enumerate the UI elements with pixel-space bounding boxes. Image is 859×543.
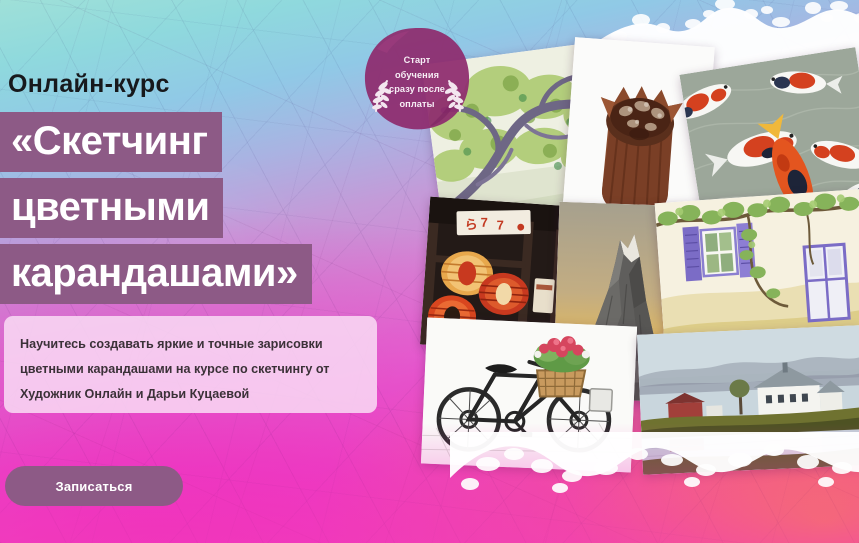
headline-line-1: «Скетчинг xyxy=(0,112,222,172)
badge-line-1: Старт xyxy=(363,53,471,68)
eyebrow-label: Онлайн-курс xyxy=(8,70,170,99)
svg-text:7: 7 xyxy=(497,217,504,232)
badge-text: Старт обучения сразу после оплаты xyxy=(363,53,471,111)
start-badge: Старт обучения сразу после оплаты xyxy=(363,27,471,132)
svg-text:ら: ら xyxy=(465,217,478,232)
badge-line-3: сразу после xyxy=(363,82,471,97)
description-line-1: Научитесь создавать яркие и точные зарис… xyxy=(20,332,357,357)
svg-text:7: 7 xyxy=(481,215,488,230)
course-hero-banner: ら77 xyxy=(0,0,859,543)
course-description-panel: Научитесь создавать яркие и точные зарис… xyxy=(4,316,377,413)
description-line-3: Художник Онлайн и Дарьи Куцаевой xyxy=(20,382,357,407)
page-title: «Скетчинг цветными карандашами» xyxy=(0,112,312,304)
enroll-button[interactable]: Записаться xyxy=(5,466,183,506)
artwork-card-landscape[interactable] xyxy=(637,325,859,475)
headline-line-2: цветными xyxy=(0,178,223,238)
description-line-2: цветными карандашами на курсе по скетчин… xyxy=(20,357,357,382)
headline-line-3: карандашами» xyxy=(0,244,312,304)
badge-line-2: обучения xyxy=(363,68,471,83)
badge-line-4: оплаты xyxy=(363,97,471,112)
landscape-artwork xyxy=(637,325,859,475)
artwork-card-bicycle[interactable] xyxy=(421,317,637,472)
bicycle-artwork xyxy=(421,317,637,472)
